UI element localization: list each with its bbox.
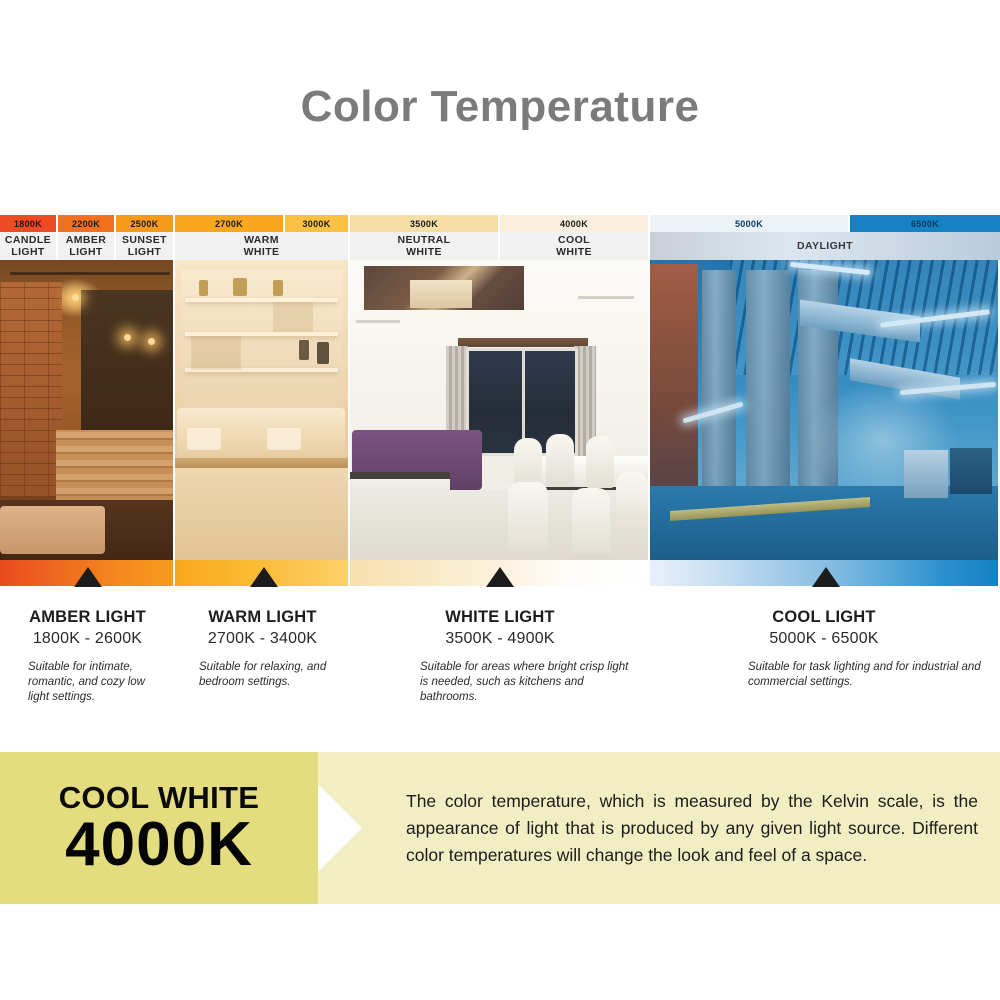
track-light-rail <box>10 272 170 275</box>
decor-object <box>317 342 329 364</box>
kelvin-name-row: CANDLE LIGHT AMBER LIGHT SUNSET LIGHT WA… <box>0 232 1000 260</box>
category-description: Suitable for relaxing, and bedroom setti… <box>189 660 336 690</box>
label-amber-light: AMBER LIGHT <box>58 232 116 260</box>
category-range: 1800K - 2600K <box>14 630 161 648</box>
kelvin-cell-6500k: 6500K <box>850 215 1000 232</box>
label-cool-white: COOL WHITE <box>500 232 650 260</box>
decor-object <box>299 340 309 360</box>
category-amber-light: AMBER LIGHT 1800K - 2600K Suitable for i… <box>0 608 175 751</box>
category-range: 2700K - 3400K <box>189 630 336 648</box>
dining-chair <box>508 482 548 552</box>
category-range: 3500K - 4900K <box>364 630 636 648</box>
cool-line2: WHITE <box>556 246 592 258</box>
neutral-line2: WHITE <box>406 246 442 258</box>
banner-body-text: The color temperature, which is measured… <box>318 788 1000 869</box>
cool-line1: COOL <box>558 234 590 246</box>
category-title: AMBER LIGHT <box>14 608 161 627</box>
kelvin-scale-header: 1800K 2200K 2500K 2700K 3000K 3500K 4000… <box>0 215 1000 260</box>
pointer-arrow-white <box>486 567 514 587</box>
bottom-banner: COOL WHITE 4000K The color temperature, … <box>0 752 1000 904</box>
neutral-line1: NEUTRAL <box>398 234 451 246</box>
category-description: Suitable for task lighting and for indus… <box>664 660 984 690</box>
category-range: 5000K - 6500K <box>664 630 984 648</box>
category-white-light: WHITE LIGHT 3500K - 4900K Suitable for a… <box>350 608 650 751</box>
warm-line2: WHITE <box>244 246 280 258</box>
coffee-table <box>175 458 350 468</box>
sunset-line1: SUNSET <box>122 234 167 246</box>
pendant-bulb-icon <box>72 294 79 301</box>
shelf-unit <box>181 270 342 420</box>
category-description: Suitable for areas where bright crisp li… <box>364 660 636 705</box>
photo-cool-warehouse <box>650 260 998 560</box>
dining-chair <box>546 434 574 486</box>
banner-description-panel: The color temperature, which is measured… <box>318 752 1000 904</box>
ceiling-fan-icon <box>356 320 400 323</box>
pendant-bulb-icon <box>148 338 155 345</box>
category-description: Suitable for intimate, romantic, and coz… <box>14 660 161 705</box>
category-title: WHITE LIGHT <box>364 608 636 627</box>
ceiling-panel <box>364 266 524 310</box>
label-candle-light: CANDLE LIGHT <box>0 232 58 260</box>
niche <box>191 336 241 370</box>
decor-object <box>199 280 208 296</box>
cushion <box>267 428 301 450</box>
category-title: COOL LIGHT <box>664 608 984 627</box>
truck <box>904 450 948 498</box>
kelvin-cell-3000k: 3000K <box>285 215 350 232</box>
category-cool-light: COOL LIGHT 5000K - 6500K Suitable for ta… <box>650 608 998 751</box>
amber-line2: LIGHT <box>69 246 103 258</box>
dining-chair <box>572 488 610 554</box>
pointer-arrow-cool <box>812 567 840 587</box>
label-sunset-light: SUNSET LIGHT <box>116 232 175 260</box>
kelvin-cell-2500k: 2500K <box>116 215 175 232</box>
label-neutral-white: NEUTRAL WHITE <box>350 232 500 260</box>
orange-wall <box>650 264 698 514</box>
curtain-pelmet <box>458 338 588 347</box>
amber-line1: AMBER <box>66 234 107 246</box>
label-warm-white: WARM WHITE <box>175 232 350 260</box>
color-temperature-gradient-bar <box>0 560 1000 586</box>
kelvin-value-row: 1800K 2200K 2500K 2700K 3000K 3500K 4000… <box>0 215 1000 232</box>
banner-highlight: COOL WHITE 4000K <box>0 752 318 904</box>
niche <box>273 302 313 332</box>
sunset-line2: LIGHT <box>128 246 162 258</box>
ceiling-inner-panel <box>410 280 472 308</box>
column <box>702 270 736 500</box>
shelf <box>185 298 338 302</box>
pendant-bulb-icon <box>124 334 131 341</box>
chevron-right-icon <box>318 784 362 872</box>
kelvin-cell-4000k: 4000K <box>500 215 650 232</box>
category-descriptions: AMBER LIGHT 1800K - 2600K Suitable for i… <box>0 586 1000 751</box>
candle-line2: LIGHT <box>11 246 45 258</box>
column <box>746 270 790 500</box>
dark-wall <box>81 290 173 440</box>
kelvin-cell-2700k: 2700K <box>175 215 285 232</box>
decor-object <box>273 280 283 296</box>
wood-counter <box>56 430 173 502</box>
banner-kelvin-value: 4000K <box>65 814 253 876</box>
warm-line1: WARM <box>244 234 279 246</box>
category-warm-light: WARM LIGHT 2700K - 3400K Suitable for re… <box>175 608 350 751</box>
decor-object <box>233 278 247 296</box>
dining-chair <box>586 436 614 488</box>
label-daylight: DAYLIGHT <box>650 232 1000 260</box>
kelvin-cell-5000k: 5000K <box>650 215 850 232</box>
trailer <box>950 448 992 494</box>
marble-floor <box>175 468 348 560</box>
candle-line1: CANDLE <box>5 234 51 246</box>
photo-white-living-dining <box>350 260 650 560</box>
scene-photo-strip <box>0 260 1000 560</box>
pointer-arrow-warm <box>250 567 278 587</box>
photo-amber-cafe <box>0 260 175 560</box>
photo-warm-living-room <box>175 260 350 560</box>
sofa <box>0 506 105 554</box>
kelvin-cell-1800k: 1800K <box>0 215 58 232</box>
page-title: Color Temperature <box>0 0 1000 215</box>
brick-wall <box>0 282 62 497</box>
kelvin-cell-3500k: 3500K <box>350 215 500 232</box>
ceiling-fan-icon <box>578 296 634 299</box>
daylight-line1: DAYLIGHT <box>797 240 853 252</box>
dining-chair <box>616 472 648 534</box>
category-title: WARM LIGHT <box>189 608 336 627</box>
pointer-arrow-amber <box>74 567 102 587</box>
kelvin-cell-2200k: 2200K <box>58 215 116 232</box>
cushion <box>187 428 221 450</box>
